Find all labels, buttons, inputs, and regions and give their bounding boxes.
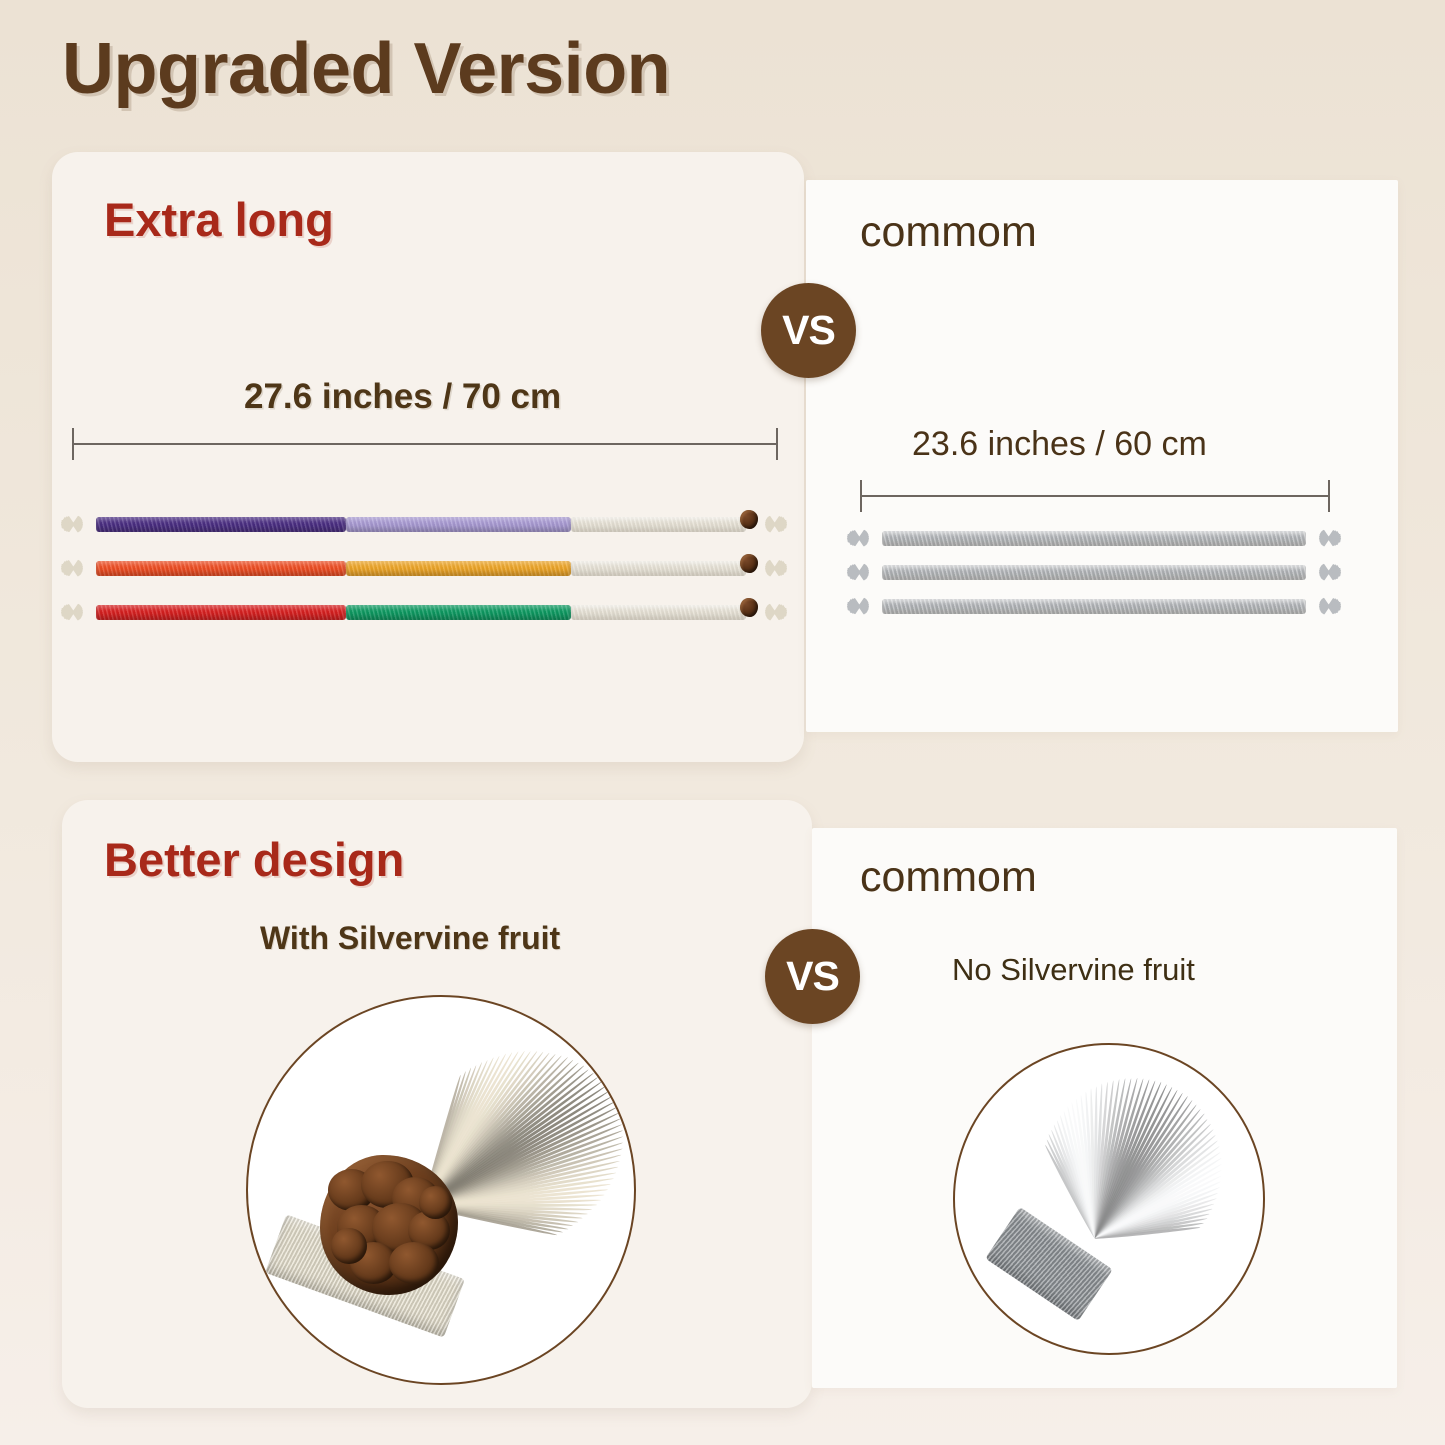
rope-segment [571, 605, 747, 620]
rope-segment [571, 561, 747, 576]
ruler-cap-right [776, 428, 778, 460]
tassel-left [70, 591, 96, 633]
rope-segment [346, 605, 570, 620]
rope-item [856, 564, 1332, 580]
rope-segment [571, 517, 747, 532]
ruler-upgraded-length [72, 428, 778, 460]
rope-item [70, 516, 786, 532]
tassel-left [70, 547, 96, 589]
rope-segment [346, 561, 570, 576]
heading-extra-long: Extra long [104, 192, 334, 247]
tassel-right [1306, 585, 1332, 627]
vs-badge-design: VS [765, 929, 860, 1024]
silvervine-fruit-nub [740, 510, 758, 529]
rope-segment [346, 517, 570, 532]
heading-common-length: commom [860, 208, 1037, 257]
rope-group-upgraded [70, 516, 790, 646]
photo-no-silvervine-fruit [953, 1043, 1265, 1355]
heading-better-design: Better design [104, 832, 404, 887]
silvervine-fruit-nub [740, 598, 758, 617]
page-title: Upgraded Version [62, 28, 670, 110]
rope-segment [882, 565, 1306, 580]
tassel-illustration [248, 997, 634, 1383]
rope-item [856, 598, 1332, 614]
vs-badge-length: VS [761, 283, 856, 378]
measurement-upgraded-length: 27.6 inches / 70 cm [244, 377, 561, 417]
rope-segment [882, 599, 1306, 614]
tassel-left [856, 585, 882, 627]
rope-segment [882, 531, 1306, 546]
tassel-left [70, 503, 96, 545]
rope-item [70, 560, 786, 576]
rope-item [856, 530, 1332, 546]
infographic-canvas: Upgraded Version Extra long 27.6 inches … [0, 0, 1445, 1445]
caption-no-silvervine-fruit: No Silvervine fruit [952, 952, 1195, 988]
silvervine-fruit-nub [740, 554, 758, 573]
ruler-bar [860, 495, 1330, 497]
rope-segment [96, 605, 346, 620]
ruler-cap-left [860, 480, 862, 512]
ruler-cap-left [72, 428, 74, 460]
photo-with-silvervine-fruit [246, 995, 636, 1385]
heading-common-design: commom [860, 853, 1037, 902]
rope-group-common [856, 530, 1336, 640]
rope-segment [96, 517, 346, 532]
fruit-lobe [331, 1228, 367, 1264]
ruler-common-length [860, 480, 1330, 512]
measurement-common-length: 23.6 inches / 60 cm [912, 425, 1207, 464]
rope-segment [96, 561, 346, 576]
ruler-bar [72, 443, 778, 445]
ruler-cap-right [1328, 480, 1330, 512]
rope-item [70, 604, 786, 620]
tassel-illustration [955, 1045, 1263, 1353]
fruit-lobe [389, 1242, 439, 1284]
caption-with-silvervine-fruit: With Silvervine fruit [260, 920, 560, 957]
